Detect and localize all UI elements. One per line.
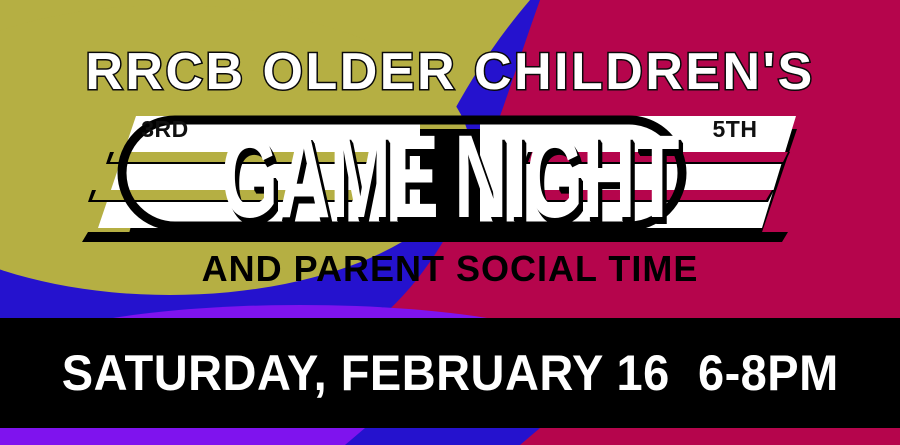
subtitle: AND PARENT SOCIAL TIME — [0, 249, 900, 289]
date-bar: SATURDAY, FEBRUARY 166-8PM — [0, 318, 900, 428]
grade-tag-right: 5TH — [680, 116, 790, 143]
event-flyer: RRCB OLDER CHILDREN'S — [0, 0, 900, 445]
bottom-strip-purple — [0, 428, 365, 445]
event-date: SATURDAY, FEBRUARY 16 — [62, 345, 670, 401]
grade-tag-left: 3RD — [110, 116, 220, 143]
date-line: SATURDAY, FEBRUARY 166-8PM — [62, 346, 839, 400]
logo-band: 3RD 5TH GAMENIGHT — [0, 108, 900, 248]
page-title: RRCB OLDER CHILDREN'S — [0, 44, 900, 100]
event-time: 6-8PM — [698, 345, 839, 401]
band-baseline-rule — [82, 232, 788, 242]
